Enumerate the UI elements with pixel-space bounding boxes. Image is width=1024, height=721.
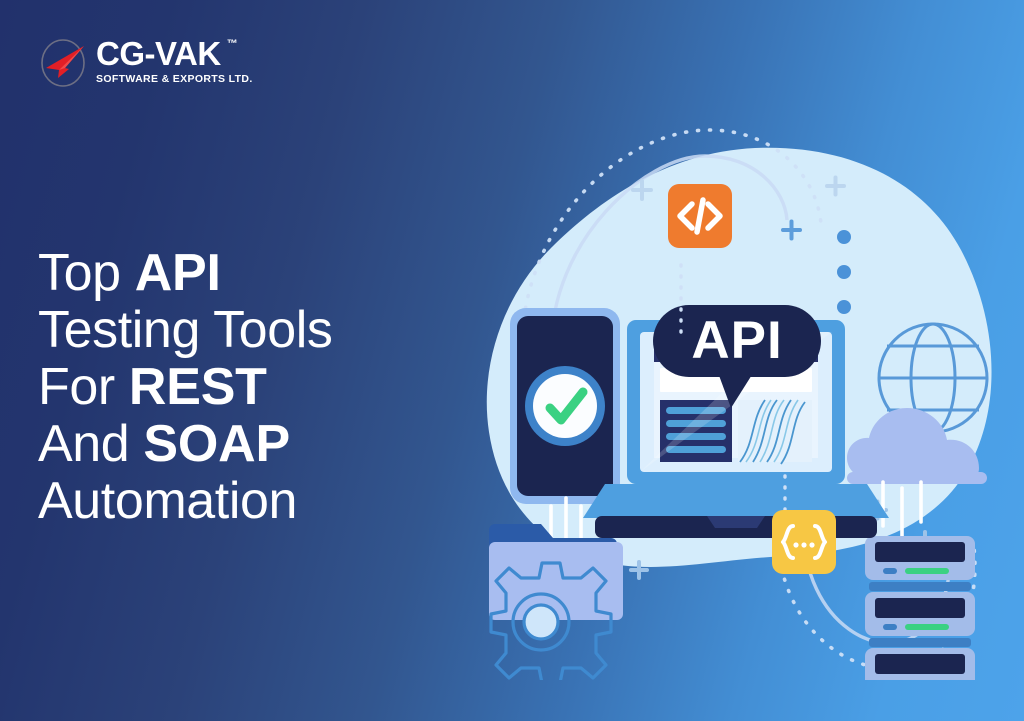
- api-bubble-label: API: [691, 311, 782, 370]
- headline-line-2-normal: Testing Tools: [38, 301, 332, 359]
- green-check-icon: [525, 366, 605, 446]
- headline-line-4-normal: And: [38, 415, 143, 473]
- headline-line-4: And SOAP: [38, 416, 438, 473]
- headline-line-1-bold: API: [135, 244, 221, 302]
- headline-line-5-normal: Automation: [38, 472, 297, 530]
- api-testing-illustration: API: [455, 120, 1024, 680]
- brand-logo[interactable]: CG-VAK ™ SOFTWARE & EXPORTS LTD.: [38, 36, 243, 96]
- headline-line-5: Automation: [38, 473, 438, 530]
- headline-line-2: Testing Tools: [38, 302, 438, 359]
- headline-line-3: For REST: [38, 359, 438, 416]
- brand-name: CG-VAK: [96, 35, 221, 72]
- brand-tagline: SOFTWARE & EXPORTS LTD.: [96, 73, 253, 86]
- headline-line-3-normal: For: [38, 358, 129, 416]
- server-rack-icon: [865, 536, 975, 680]
- headline-line-1: Top API: [38, 245, 438, 302]
- arrow-swoosh-ellipse-icon: [38, 38, 92, 88]
- headline-line-1-normal: Top: [38, 244, 135, 302]
- headline-line-3-bold: REST: [129, 358, 267, 416]
- brand-logo-text: CG-VAK ™ SOFTWARE & EXPORTS LTD.: [96, 36, 253, 86]
- trademark-symbol: ™: [227, 38, 238, 50]
- page-title: Top API Testing Tools For REST And SOAP …: [38, 245, 438, 530]
- headline-line-4-bold: SOAP: [143, 415, 290, 473]
- folder-icon: [489, 524, 623, 620]
- banner-root: CG-VAK ™ SOFTWARE & EXPORTS LTD. Top API…: [0, 0, 1024, 721]
